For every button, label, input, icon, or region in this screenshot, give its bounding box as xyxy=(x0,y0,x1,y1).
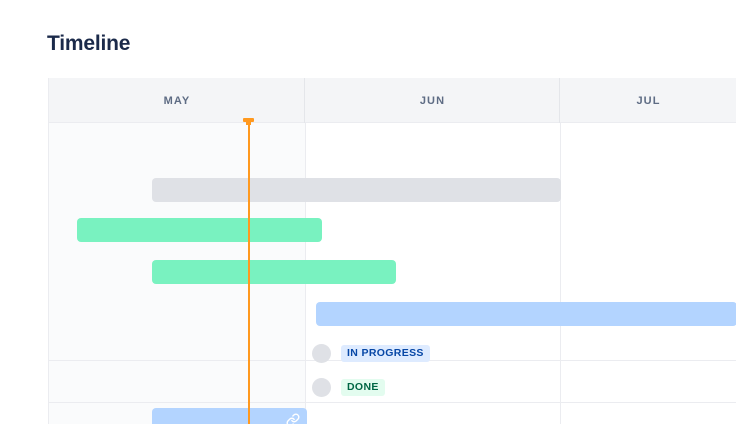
timeline-body[interactable]: IN PROGRESS DONE xyxy=(49,123,736,424)
timeline-bar-blue-linked[interactable] xyxy=(152,408,307,424)
avatar[interactable] xyxy=(312,344,331,363)
timeline-bar-gray[interactable] xyxy=(152,178,561,202)
avatar[interactable] xyxy=(312,378,331,397)
timeline-bar-green[interactable] xyxy=(152,260,396,284)
row-divider xyxy=(49,402,736,403)
timeline-bar-blue[interactable] xyxy=(316,302,736,326)
timeline-bar-green[interactable] xyxy=(77,218,322,242)
status-row-in-progress[interactable]: IN PROGRESS xyxy=(312,344,430,363)
page-title: Timeline xyxy=(47,31,130,57)
month-label: MAY xyxy=(164,95,191,107)
status-badge[interactable]: IN PROGRESS xyxy=(341,345,430,362)
column-divider-jun-jul xyxy=(560,123,561,424)
timeline-page: Timeline MAY JUN JUL xyxy=(0,0,736,424)
month-column-jul[interactable]: JUL xyxy=(560,78,736,123)
link-icon[interactable] xyxy=(286,413,300,424)
month-column-jun[interactable]: JUN xyxy=(305,78,560,123)
month-label: JUN xyxy=(420,95,445,107)
timeline-chart[interactable]: MAY JUN JUL xyxy=(48,78,736,424)
month-label: JUL xyxy=(636,95,660,107)
status-badge[interactable]: DONE xyxy=(341,379,385,396)
status-row-done[interactable]: DONE xyxy=(312,378,385,397)
month-column-may[interactable]: MAY xyxy=(49,78,305,123)
timeline-header: MAY JUN JUL xyxy=(49,78,736,123)
